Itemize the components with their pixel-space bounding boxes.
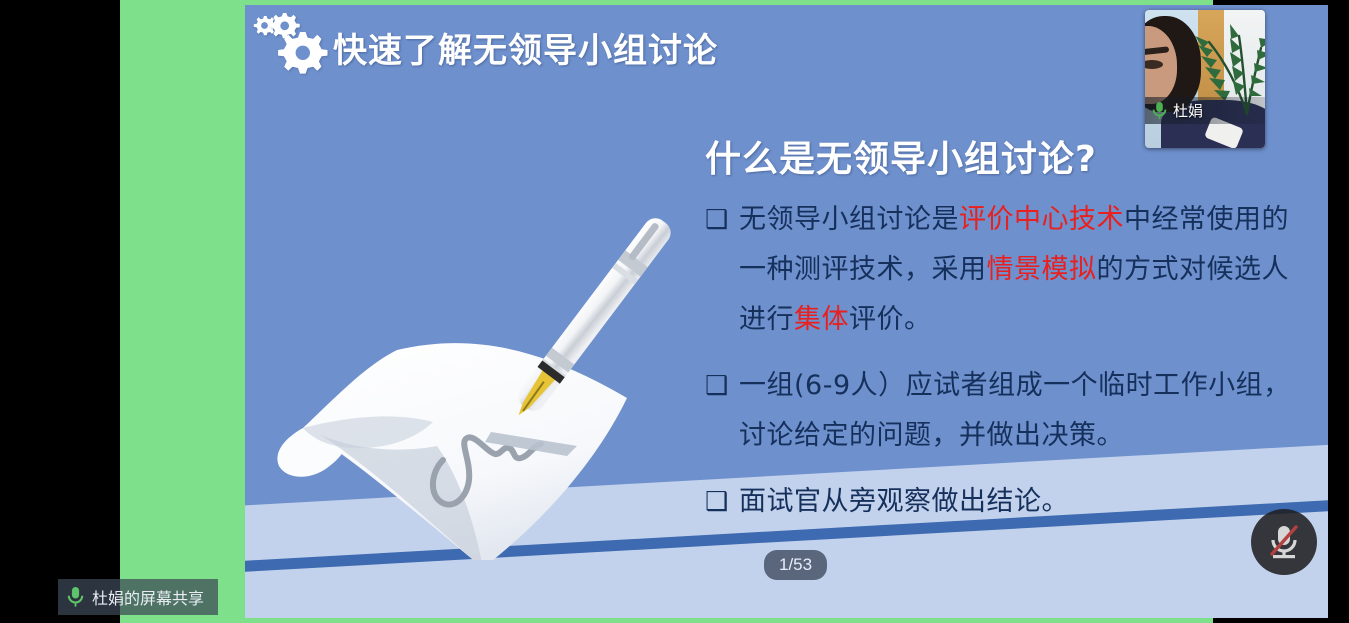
slide-heading: 什么是无领导小组讨论? [705,130,1097,182]
bullet-item: ❑ 一组(6-9人）应试者组成一个临时工作小组，讨论给定的问题，并做出决策。 [705,361,1305,461]
pen-signing-paper-illustration [245,160,685,560]
plain-text: 无领导小组讨论是 [739,204,959,235]
highlighted-text: 评价中心技术 [959,204,1124,235]
bullet-marker: ❑ [705,477,739,527]
page-indicator: 1/53 [764,550,827,580]
highlighted-text: 情景模拟 [987,254,1097,285]
bullet-item: ❑ 无领导小组讨论是评价中心技术中经常使用的一种测评技术，采用情景模拟的方式对候… [705,195,1305,345]
plain-text: 评价。 [849,304,932,335]
bullet-marker: ❑ [705,361,739,461]
screen-share-viewer: 快速了解无领导小组讨论 [0,0,1349,623]
gears-icon [250,8,330,78]
self-view-video-tile[interactable]: 杜娟 [1145,10,1265,148]
slide-title: 快速了解无领导小组讨论 [333,23,718,72]
plain-text: 一组(6-9人）应试者组成一个临时工作小组，讨论给定的问题，并做出决策。 [739,370,1291,451]
microphone-icon [66,586,85,608]
mute-microphone-button[interactable] [1251,509,1317,575]
screen-share-label: 杜娟的屏幕共享 [58,579,218,615]
bullet-text: 无领导小组讨论是评价中心技术中经常使用的一种测评技术，采用情景模拟的方式对候选人… [739,195,1305,345]
plain-text: 面试官从旁观察做出结论。 [739,486,1069,517]
highlighted-text: 集体 [794,304,849,335]
self-view-name: 杜娟 [1173,100,1203,121]
bullet-marker: ❑ [705,195,739,345]
microphone-icon [1151,101,1168,120]
bullet-text: 一组(6-9人）应试者组成一个临时工作小组，讨论给定的问题，并做出决策。 [739,361,1305,461]
bullet-text: 面试官从旁观察做出结论。 [739,477,1069,527]
bullet-item: ❑ 面试官从旁观察做出结论。 [705,477,1305,527]
self-view-name-label: 杜娟 [1145,97,1265,124]
slide-bullet-list: ❑ 无领导小组讨论是评价中心技术中经常使用的一种测评技术，采用情景模拟的方式对候… [705,195,1305,543]
screen-share-border: 快速了解无领导小组讨论 [120,0,1213,623]
microphone-muted-icon [1267,523,1301,561]
screen-share-label-text: 杜娟的屏幕共享 [92,585,204,609]
